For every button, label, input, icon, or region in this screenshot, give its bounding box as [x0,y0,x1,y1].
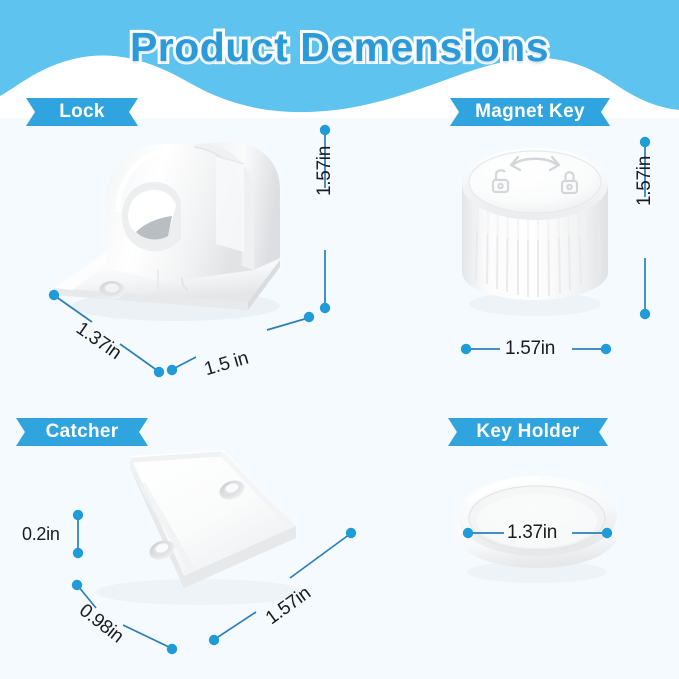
lock-height-dot-bottom [320,303,330,313]
magnet-key-product-image [452,132,618,322]
catcher-length-line-lower [215,612,256,639]
lock-height-label: 1.57in [314,146,336,196]
section-banner-key-holder: Key Holder [448,418,608,446]
catcher-length-dot-high [346,528,356,538]
magnet-diameter-dot-left [461,344,471,354]
catcher-product-image [72,442,322,612]
catcher-thickness-label: 0.2in [22,524,60,545]
section-label-key-holder: Key Holder [448,418,608,446]
magnet-diameter-label: 1.57in [505,338,555,360]
magnet-height-dot-bottom [640,309,650,319]
page-title-wrap: Product Demensions [0,24,679,71]
magnet-diameter-dot-right [601,344,611,354]
catcher-length-dot-low [209,635,219,645]
magnet-height-label: 1.57in [634,156,656,206]
section-label-lock: Lock [26,98,138,126]
section-banner-magnet-key: Magnet Key [450,98,610,126]
lock-depth-dot-bottom [154,367,164,377]
section-label-catcher: Catcher [16,418,148,446]
section-label-magnet-key: Magnet Key [450,98,610,126]
catcher-width-line-lower [123,625,171,648]
lock-width-line-left [173,357,196,369]
lock-height-dot-top [320,125,330,135]
lock-product-image [48,120,308,330]
magnet-height-dot-top [640,137,650,147]
lock-width-dot-left [167,365,177,375]
lock-depth-line-lower [120,344,158,371]
key-holder-product-image [452,468,622,588]
lock-width-label: 1.5 in [202,348,251,381]
section-banner-lock: Lock [26,98,138,126]
product-dimensions-infographic: Product Demensions [0,0,679,679]
catcher-width-dot-bottom [167,644,177,654]
section-banner-catcher: Catcher [16,418,148,446]
page-title: Product Demensions [130,24,549,71]
